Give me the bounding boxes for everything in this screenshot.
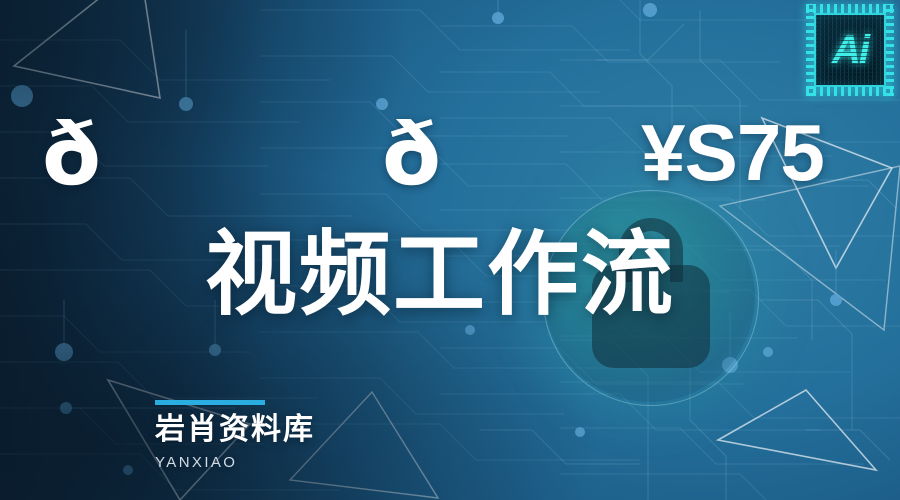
price-text: ¥S75: [641, 113, 824, 193]
chip-body: Ai: [814, 13, 886, 87]
decorative-glyph-1: ð: [42, 112, 101, 198]
decorative-glyph-2: ð: [382, 112, 441, 198]
chip-ai-label: Ai: [816, 15, 884, 85]
brand-block: 岩肖资料库 YANXIAO: [155, 400, 415, 471]
brand-subtitle: YANXIAO: [155, 454, 415, 471]
page-title: 视频工作流: [205, 229, 675, 321]
brand-accent-bar: [155, 400, 265, 405]
ai-chip-icon: Ai: [806, 4, 894, 96]
poster-canvas: Ai ð ð ¥S75 视频工作流 岩肖资料库 YANXIAO: [0, 0, 900, 500]
brand-name: 岩肖资料库: [155, 413, 415, 448]
